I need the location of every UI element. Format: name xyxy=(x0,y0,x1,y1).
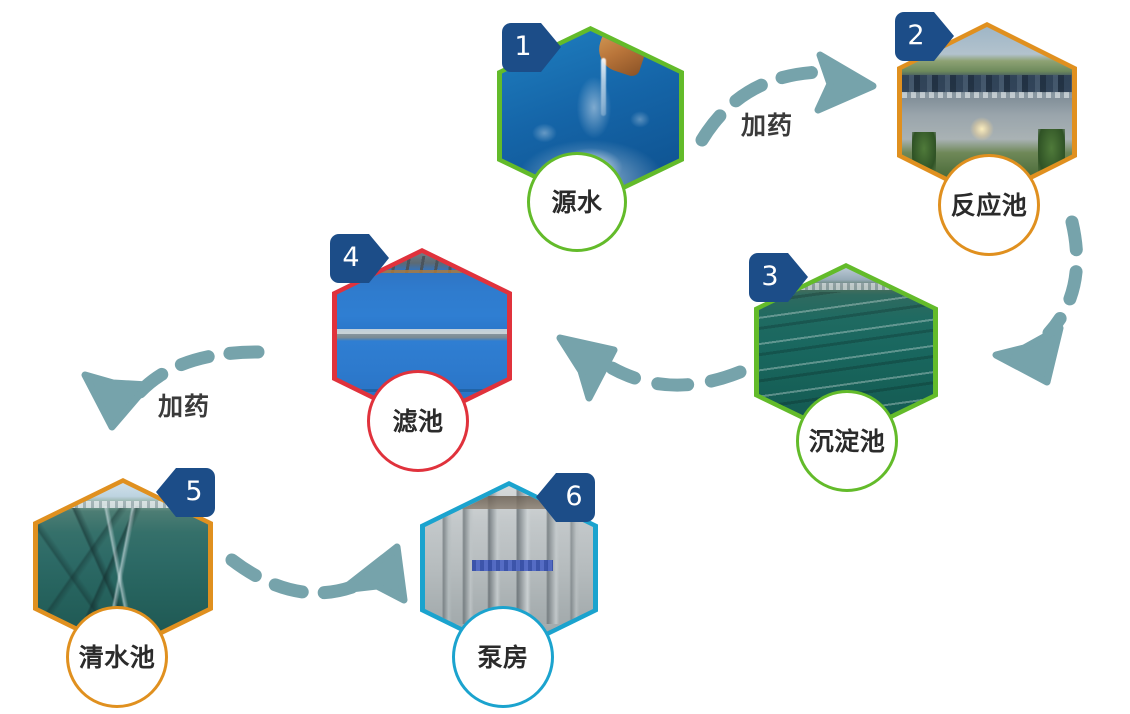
railing-band xyxy=(902,92,1072,99)
step-2-badge: 2 xyxy=(894,10,956,63)
walkway-rail xyxy=(337,329,507,334)
step-3-badge: 3 xyxy=(748,251,810,304)
step-6-badge: 6 xyxy=(534,471,596,524)
step-4-number: 4 xyxy=(329,232,373,285)
step-5-number: 5 xyxy=(172,466,216,519)
step-5-label: 清水池 xyxy=(79,645,156,670)
step-1-badge: 1 xyxy=(501,21,563,74)
step-6-number: 6 xyxy=(552,471,596,524)
connector-label-step1-to-step2: 加药 xyxy=(741,106,793,142)
process-flow-diagram: 加药 加药 源水 1 xyxy=(0,0,1130,714)
step-4-label: 滤池 xyxy=(392,409,443,434)
step-4-badge: 4 xyxy=(329,232,391,285)
connector-step5-to-step6 xyxy=(232,547,404,600)
step-node-3[interactable]: 沉淀池 3 xyxy=(754,263,938,441)
pouring-stream xyxy=(601,58,606,116)
step-node-4[interactable]: 滤池 4 xyxy=(332,248,512,424)
control-panel-band xyxy=(472,560,553,571)
step-1-label: 源水 xyxy=(551,190,602,215)
step-1-label-circle[interactable]: 源水 xyxy=(527,152,627,252)
step-2-label-circle[interactable]: 反应池 xyxy=(938,154,1040,256)
step-5-badge: 5 xyxy=(154,466,216,519)
step-2-number: 2 xyxy=(894,10,938,63)
step-3-label: 沉淀池 xyxy=(809,429,886,454)
step-node-5[interactable]: 清水池 5 xyxy=(33,478,213,654)
step-6-label: 泵房 xyxy=(477,645,528,670)
step-3-label-circle[interactable]: 沉淀池 xyxy=(796,390,898,492)
step-2-label: 反应池 xyxy=(951,193,1028,218)
connector-label-step4-to-step5: 加药 xyxy=(158,387,210,423)
step-3-number: 3 xyxy=(748,251,792,304)
step-1-number: 1 xyxy=(501,21,545,74)
step-4-label-circle[interactable]: 滤池 xyxy=(367,370,469,472)
step-6-label-circle[interactable]: 泵房 xyxy=(452,606,554,708)
step-node-1[interactable]: 源水 1 xyxy=(497,26,684,206)
step-node-2[interactable]: 反应池 2 xyxy=(897,22,1077,202)
plant-structure-band xyxy=(902,75,1072,94)
connector-step3-to-step4 xyxy=(560,338,740,398)
step-5-label-circle[interactable]: 清水池 xyxy=(66,606,168,708)
step-node-6[interactable]: 泵房 6 xyxy=(420,481,598,655)
